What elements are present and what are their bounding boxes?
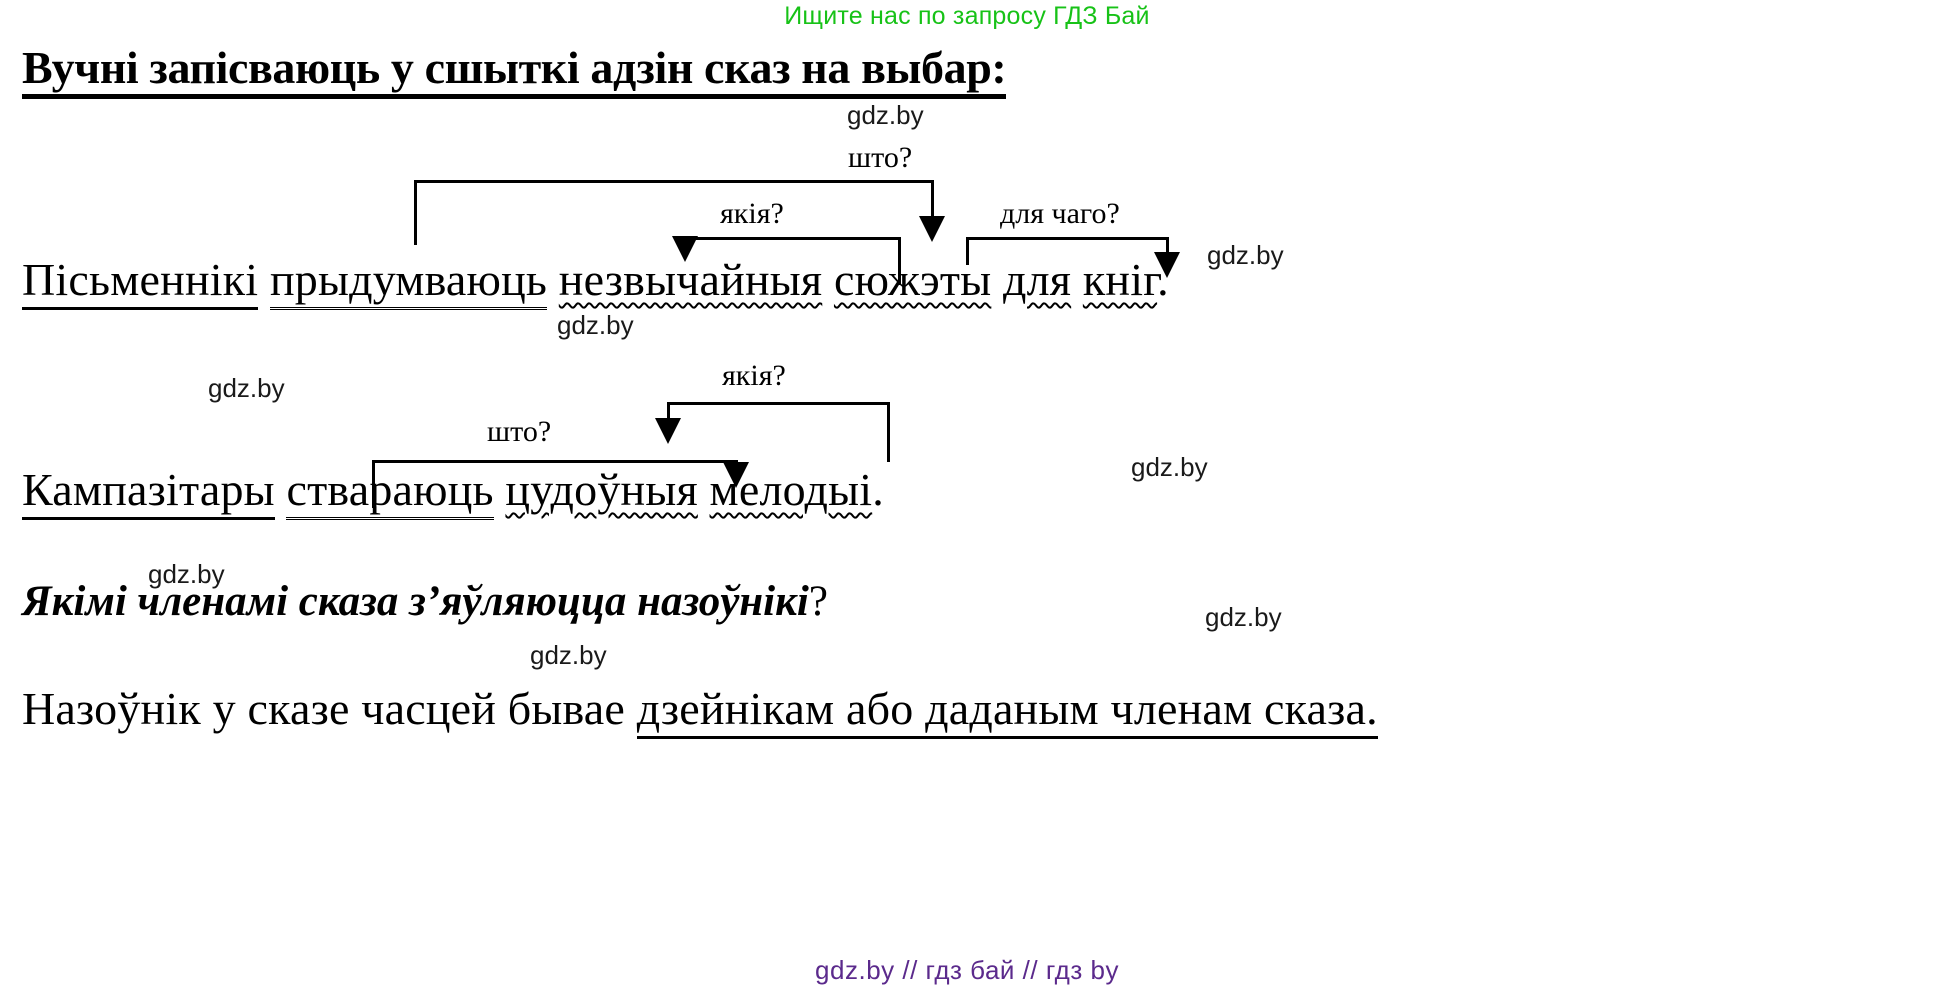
watermark-gdz-4: gdz.by (208, 373, 285, 404)
watermark-gdz-5: gdz.by (1131, 452, 1208, 483)
question-label-yakiya-1: якія? (720, 197, 784, 231)
watermark-gdz-1: gdz.by (847, 100, 924, 131)
task-answer-underlined: дзейнікам або даданым членам сказа. (637, 683, 1378, 739)
question-label-yakiya-2: якія? (722, 359, 786, 393)
top-watermark-banner: Ищите нас по запросу ГДЗ Бай (0, 2, 1934, 31)
sentence-1-period: . (1157, 254, 1169, 305)
connector-yakiya-horizontal (684, 237, 900, 240)
connector-dlya-chago-horizontal (966, 237, 1168, 240)
connector-shto-left-stem (414, 180, 417, 245)
sentence-1: Пісьменнікі прыдумваюць незвычайныя сюжэ… (22, 256, 1169, 304)
connector-yakiya2-right-stem (887, 402, 890, 462)
task-answer-prefix: Назоўнік у сказе часцей бывае (22, 683, 637, 734)
arrowhead-shto-1 (919, 216, 945, 242)
sentence-2-word-4: мелодыі (710, 464, 873, 515)
sentence-2-word-3: цудоўныя (505, 464, 697, 515)
sentence-2-word-2: ствараюць (286, 464, 493, 520)
sentence-1-word-1: Пісьменнікі (22, 254, 258, 310)
connector-yakiya2-horizontal (667, 402, 887, 405)
sentence-2-period: . (872, 464, 884, 515)
arrowhead-yakiya-2 (655, 418, 681, 444)
bottom-watermark-banner: gdz.by // гдз бай // гдз by (0, 955, 1934, 986)
task-question-mark: ? (809, 578, 828, 625)
sentence-1-word-4: сюжэты (834, 254, 991, 305)
sentence-1-word-5: для (1003, 254, 1071, 305)
connector-shto-horizontal (414, 180, 934, 183)
sentence-1-word-2: прыдумваюць (270, 254, 547, 310)
question-label-shto-2: што? (487, 415, 551, 449)
task-answer: Назоўнік у сказе часцей бывае дзейнікам … (22, 685, 1378, 733)
watermark-gdz-3: gdz.by (557, 310, 634, 341)
connector-shto2-horizontal (372, 460, 735, 463)
question-label-shto-1: што? (848, 141, 912, 175)
sentence-1-word-3: незвычайныя (559, 254, 822, 305)
watermark-gdz-8: gdz.by (530, 640, 607, 671)
task-question-text: Якімі членамі сказа з’яўляюцца назоўнікі (22, 578, 809, 625)
task-question: Якімі членамі сказа з’яўляюцца назоўнікі… (22, 577, 828, 626)
page-title: Вучні запісваюць у сшыткі адзін сказ на … (22, 44, 1006, 99)
connector-shto-right-stem (931, 180, 934, 218)
sentence-2: Кампазітары ствараюць цудоўныя мелодыі. (22, 466, 884, 514)
sentence-1-word-6: кніг (1083, 254, 1157, 305)
watermark-gdz-2: gdz.by (1207, 240, 1284, 271)
watermark-gdz-7: gdz.by (1205, 602, 1282, 633)
question-label-dlya-chago: для чаго? (1000, 197, 1120, 231)
sentence-2-word-1: Кампазітары (22, 464, 275, 520)
